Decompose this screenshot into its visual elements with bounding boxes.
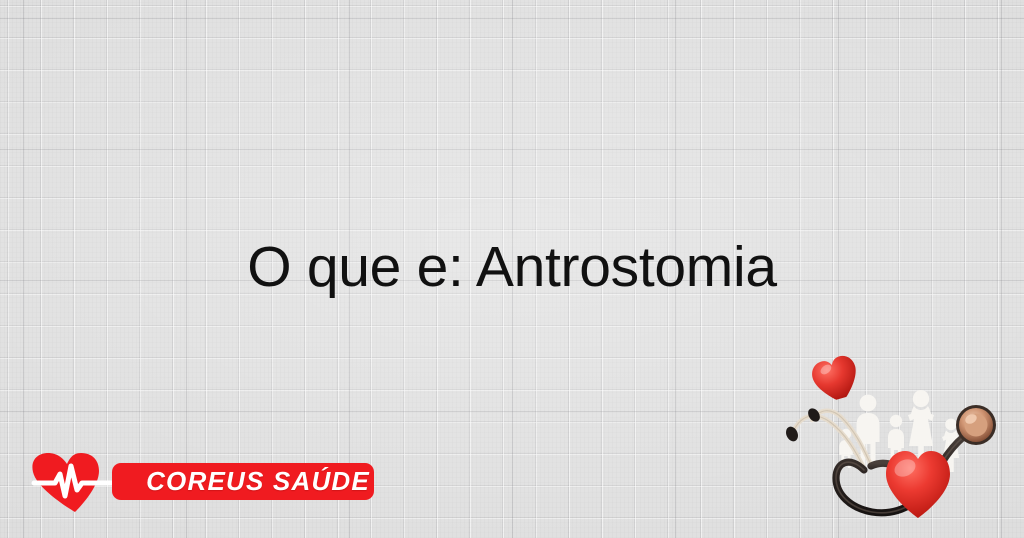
stethoscope-chestpiece — [956, 405, 996, 445]
brand-name-label: COREUS SAÚDE — [112, 463, 374, 500]
stethoscope-eartips — [784, 406, 823, 443]
brand-name-pill: COREUS SAÚDE — [112, 463, 374, 500]
brand-logo: COREUS SAÚDE — [29, 450, 349, 514]
heart-ecg-icon — [29, 452, 121, 514]
slide-canvas: O que e: Antrostomia COREUS SAÚDE — [0, 0, 1024, 538]
page-title: O que e: Antrostomia — [0, 236, 1024, 299]
health-illustration — [780, 352, 1020, 530]
small-heart-icon — [809, 353, 863, 405]
